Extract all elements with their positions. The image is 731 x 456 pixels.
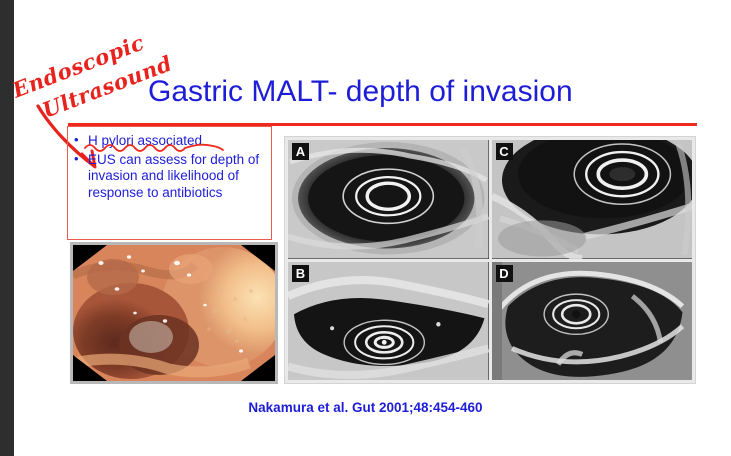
eus-panel-label: D (496, 265, 513, 282)
eus-panel-a: A (288, 140, 489, 259)
citation: Nakamura et al. Gut 2001;48:454-460 (0, 400, 731, 415)
eus-panel-b: B (288, 262, 489, 381)
eus-panel-label: B (292, 265, 309, 282)
list-item: EUS can assess for depth of invasion and… (72, 152, 265, 202)
bullet-text: H pylori associated (88, 133, 202, 148)
endoscopy-photo (70, 242, 278, 384)
slide-canvas: Endoscopic Ultrasound Gastric MALT- dept… (0, 0, 731, 456)
annotation-line-1: Endoscopic (8, 30, 148, 104)
left-gutter (0, 0, 14, 456)
bullet-text-box: H pylori associated EUS can assess for d… (67, 126, 272, 240)
eus-figure: A C (284, 136, 696, 384)
eus-panel-label: A (292, 143, 309, 160)
bullet-text: EUS can assess for depth of invasion and… (88, 152, 259, 200)
bullet-list: H pylori associated EUS can assess for d… (68, 127, 271, 201)
eus-panel-label: C (496, 143, 513, 160)
eus-panel-d: D (492, 262, 693, 381)
eus-panel-c: C (492, 140, 693, 259)
list-item: H pylori associated (72, 133, 265, 150)
page-title: Gastric MALT- depth of invasion (148, 74, 688, 110)
